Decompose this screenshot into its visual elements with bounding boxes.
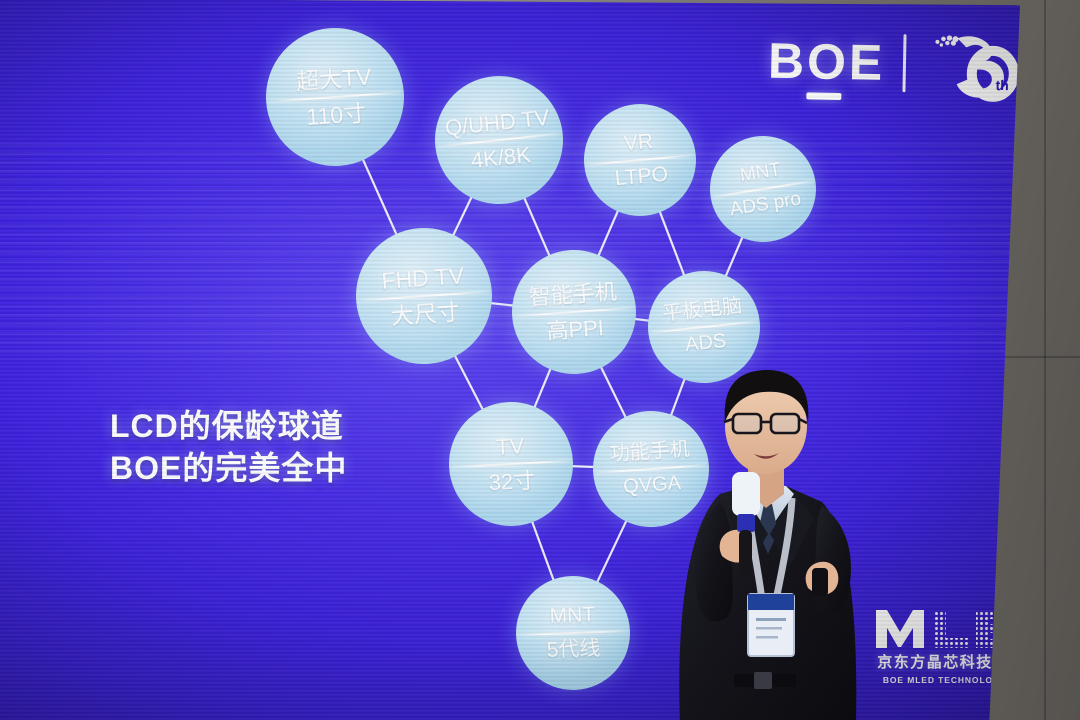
presenter-belt-buckle bbox=[754, 672, 772, 689]
presenter-arm-left bbox=[695, 502, 733, 621]
presenter-speaker bbox=[636, 318, 896, 720]
node-ultra-large-tv-title: 超大TV bbox=[264, 62, 403, 96]
wall-seam-vertical bbox=[1044, 0, 1046, 720]
link-quhd-tv-to-smartphone bbox=[524, 197, 550, 257]
link-fhd-tv-to-smartphone bbox=[490, 303, 515, 306]
node-fhd-tv-subtitle: 大尺寸 bbox=[357, 297, 494, 331]
presenter-badge-line-2 bbox=[756, 627, 782, 630]
node-vr-subtitle: LTPO bbox=[585, 161, 698, 193]
node-mnt-gen5-divider bbox=[518, 630, 627, 636]
microphone-body bbox=[739, 530, 752, 576]
boe-underline bbox=[806, 92, 841, 100]
presentation-clicker bbox=[812, 568, 828, 596]
conference-stage-photo: 超大TV110寸Q/UHD TV4K/8KVRLTPOMNTADS proFHD… bbox=[0, 0, 1080, 720]
link-tv-32-to-mnt-gen5 bbox=[532, 520, 554, 581]
node-mnt-ads-pro-title: MNT bbox=[707, 155, 815, 191]
presenter-badge-header bbox=[748, 594, 794, 610]
node-smartphone-title: 智能手机 bbox=[510, 279, 635, 311]
node-tv-32-title: TV bbox=[448, 432, 573, 462]
link-fhd-tv-to-tv-32 bbox=[454, 355, 483, 411]
microphone-head bbox=[732, 472, 760, 516]
slide-headline: LCD的保龄球道 BOE的完美全中 bbox=[110, 406, 347, 489]
presenter-arm-right bbox=[813, 506, 851, 613]
node-tv-32-subtitle: 32寸 bbox=[449, 467, 574, 497]
node-mnt-gen5-subtitle: 5代线 bbox=[516, 637, 631, 663]
node-smartphone-subtitle: 高PPI bbox=[513, 314, 638, 346]
node-mnt-gen5-title: MNT bbox=[515, 603, 630, 629]
boe-logo: BOE bbox=[767, 24, 1020, 103]
node-mnt-ads-pro-subtitle: ADS pro bbox=[712, 187, 820, 223]
node-fhd-tv-title: FHD TV bbox=[354, 261, 491, 295]
node-vr-title: VR bbox=[582, 127, 695, 159]
presenter-badge-line-1 bbox=[756, 618, 786, 621]
boe-30th-anniversary-mark: th bbox=[924, 27, 1020, 103]
link-tv-32-to-feature-phone bbox=[571, 466, 595, 467]
presenter-badge-line-3 bbox=[756, 636, 778, 639]
link-ultra-large-tv-to-fhd-tv bbox=[362, 158, 397, 236]
boe-logo-divider bbox=[903, 34, 907, 92]
boe-wordmark: BOE bbox=[768, 36, 886, 88]
link-feature-phone-to-mnt-gen5 bbox=[597, 520, 627, 584]
link-mnt-ads-pro-to-tablet bbox=[725, 236, 743, 277]
boe-wordmark-text: BOE bbox=[767, 33, 885, 91]
node-ultra-large-tv-subtitle: 110寸 bbox=[267, 98, 406, 132]
boe-30th-suffix-text: th bbox=[996, 77, 1010, 93]
microphone-band bbox=[737, 514, 755, 532]
link-vr-to-smartphone bbox=[598, 210, 619, 257]
link-smartphone-to-tv-32 bbox=[534, 367, 551, 408]
link-smartphone-to-feature-phone bbox=[600, 366, 626, 419]
link-vr-to-tablet bbox=[659, 210, 684, 276]
link-quhd-tv-to-fhd-tv bbox=[453, 196, 473, 237]
